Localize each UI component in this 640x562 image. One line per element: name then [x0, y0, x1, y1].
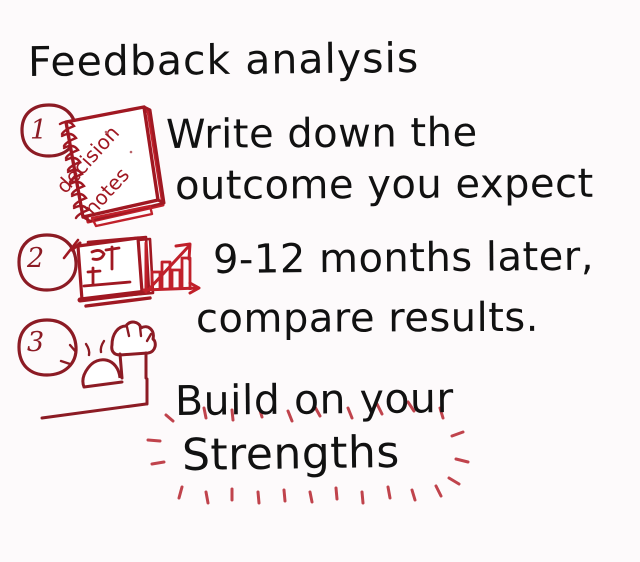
step-2-number: 2 [27, 243, 44, 274]
page-title: Feedback analysis [28, 34, 420, 86]
flexed-arm-muscle-icon [42, 322, 155, 418]
step-3-number: 3 [27, 327, 44, 358]
step-1-text-line-2: outcome you expect [175, 161, 594, 209]
paper-stack-icon [64, 237, 153, 306]
sketch-canvas: Feedback analysis 1 2 3 decision notes W… [0, 0, 640, 562]
step-2-text-line-2: compare results. [196, 295, 539, 342]
step-3-text-line-1: Build on your [175, 374, 454, 425]
step-1-text-line-1: Write down the [166, 110, 478, 158]
step-3-text-line-2: Strengths [182, 427, 400, 481]
step-2-text-line-1: 9-12 months later, [213, 234, 594, 283]
step-1-number: 1 [30, 115, 47, 146]
